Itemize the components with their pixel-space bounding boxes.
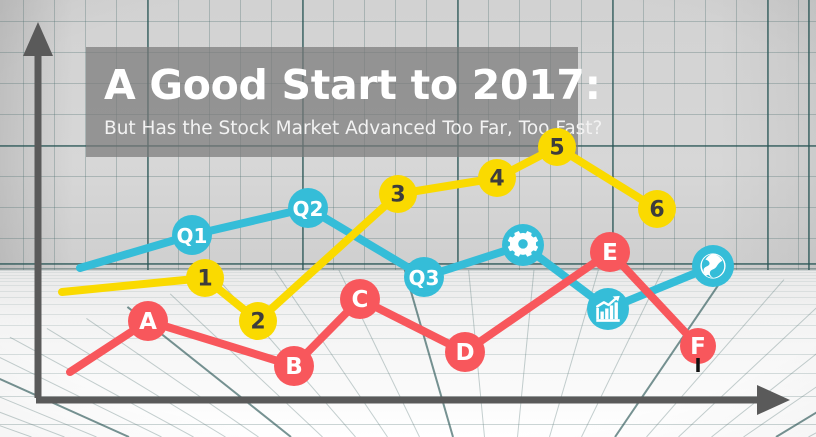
data-point-growth-chart[interactable]	[587, 288, 629, 330]
data-point-q1[interactable]: Q1	[172, 215, 212, 255]
data-point-d-label: D	[455, 340, 474, 366]
data-point-3[interactable]: 3	[379, 175, 417, 213]
data-point-6-label: 6	[649, 198, 664, 223]
data-point-4-label: 4	[489, 167, 504, 192]
data-point-e[interactable]: E	[590, 232, 630, 272]
data-point-2-label: 2	[250, 310, 265, 335]
infographic-canvas: A Good Start to 2017: But Has the Stock …	[0, 0, 816, 437]
data-point-c-label: C	[352, 287, 369, 313]
data-point-q3-label: Q3	[409, 266, 440, 290]
data-point-b-label: B	[285, 354, 303, 380]
data-point-gear[interactable]	[502, 224, 544, 266]
data-point-d[interactable]: D	[445, 332, 485, 372]
data-point-5-label: 5	[549, 136, 564, 161]
globe-icon	[700, 253, 725, 278]
data-point-b[interactable]: B	[274, 346, 314, 386]
data-point-3-label: 3	[390, 183, 405, 208]
data-point-q2[interactable]: Q2	[288, 188, 328, 228]
data-point-4[interactable]: 4	[478, 159, 516, 197]
data-point-2[interactable]: 2	[239, 302, 277, 340]
data-point-globe[interactable]	[692, 245, 734, 287]
data-point-q3[interactable]: Q3	[404, 257, 444, 297]
data-point-6[interactable]: 6	[638, 190, 676, 228]
line-chart: Q1 Q2 Q3	[0, 0, 816, 437]
data-point-1-label: 1	[197, 267, 212, 292]
data-point-e-label: E	[602, 240, 618, 266]
data-point-c[interactable]: C	[340, 279, 380, 319]
data-point-f-label: F	[690, 334, 706, 360]
data-point-a[interactable]: A	[128, 301, 168, 341]
data-point-a-label: A	[139, 309, 157, 335]
data-point-q1-label: Q1	[177, 224, 208, 248]
data-point-q2-label: Q2	[293, 197, 324, 221]
data-point-5[interactable]: 5	[538, 128, 576, 166]
data-point-1[interactable]: 1	[186, 259, 224, 297]
